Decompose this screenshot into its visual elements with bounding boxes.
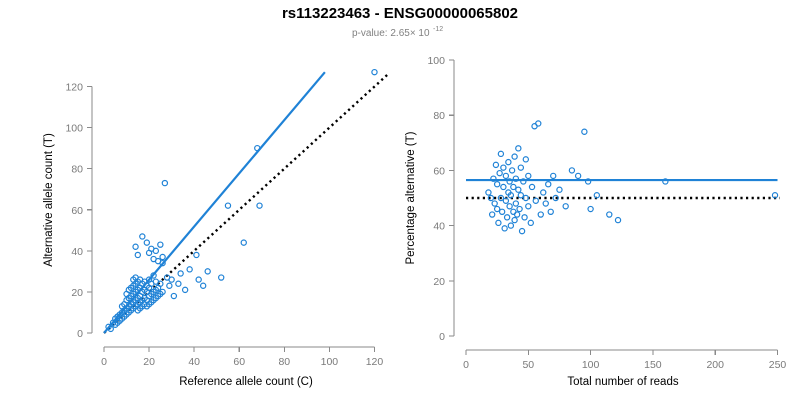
x-tick-label: 80 bbox=[278, 356, 290, 368]
y-tick-label: 100 bbox=[427, 55, 445, 67]
x-tick-label: 120 bbox=[366, 356, 384, 368]
x-tick-label: 60 bbox=[233, 356, 245, 368]
plot-canvas: rs113223463 - ENSG00000065802 p-value: 2… bbox=[0, 0, 800, 400]
subtitle-pvalue-exponent: -12 bbox=[433, 26, 443, 33]
x-tick-label: 100 bbox=[321, 356, 339, 368]
x-tick-label: 50 bbox=[522, 359, 534, 371]
x-tick-label: 40 bbox=[188, 356, 200, 368]
y-tick-label: 20 bbox=[71, 287, 83, 299]
x-tick-label: 200 bbox=[706, 359, 724, 371]
page-title: rs113223463 - ENSG00000065802 bbox=[282, 5, 518, 22]
y-tick-label: 60 bbox=[433, 165, 445, 177]
x-axis-title: Total number of reads bbox=[567, 376, 678, 388]
y-tick-label: 100 bbox=[65, 123, 83, 135]
y-tick-label: 40 bbox=[71, 246, 83, 258]
figure-background bbox=[0, 0, 800, 400]
x-tick-label: 250 bbox=[769, 359, 787, 371]
y-axis-title: Percentage alternative (T) bbox=[405, 131, 417, 264]
subtitle-group: p-value: 2.65× 10 -12 bbox=[352, 26, 443, 39]
x-tick-label: 0 bbox=[101, 356, 107, 368]
x-tick-label: 100 bbox=[582, 359, 600, 371]
y-tick-label: 20 bbox=[433, 276, 445, 288]
y-tick-label: 0 bbox=[77, 328, 83, 340]
y-tick-label: 80 bbox=[71, 164, 83, 176]
y-tick-label: 40 bbox=[433, 221, 445, 233]
y-tick-label: 60 bbox=[71, 205, 83, 217]
y-axis-title: Alternative allele count (T) bbox=[43, 133, 55, 267]
allelic-imbalance-figure: rs113223463 - ENSG00000065802 p-value: 2… bbox=[0, 0, 800, 400]
y-tick-label: 120 bbox=[65, 82, 83, 94]
x-axis-title: Reference allele count (C) bbox=[179, 376, 313, 388]
x-tick-label: 150 bbox=[644, 359, 662, 371]
y-tick-label: 0 bbox=[439, 331, 445, 343]
y-tick-label: 80 bbox=[433, 110, 445, 122]
subtitle-pvalue-text: p-value: 2.65× 10 bbox=[352, 28, 430, 39]
x-tick-label: 20 bbox=[143, 356, 155, 368]
x-tick-label: 0 bbox=[463, 359, 469, 371]
